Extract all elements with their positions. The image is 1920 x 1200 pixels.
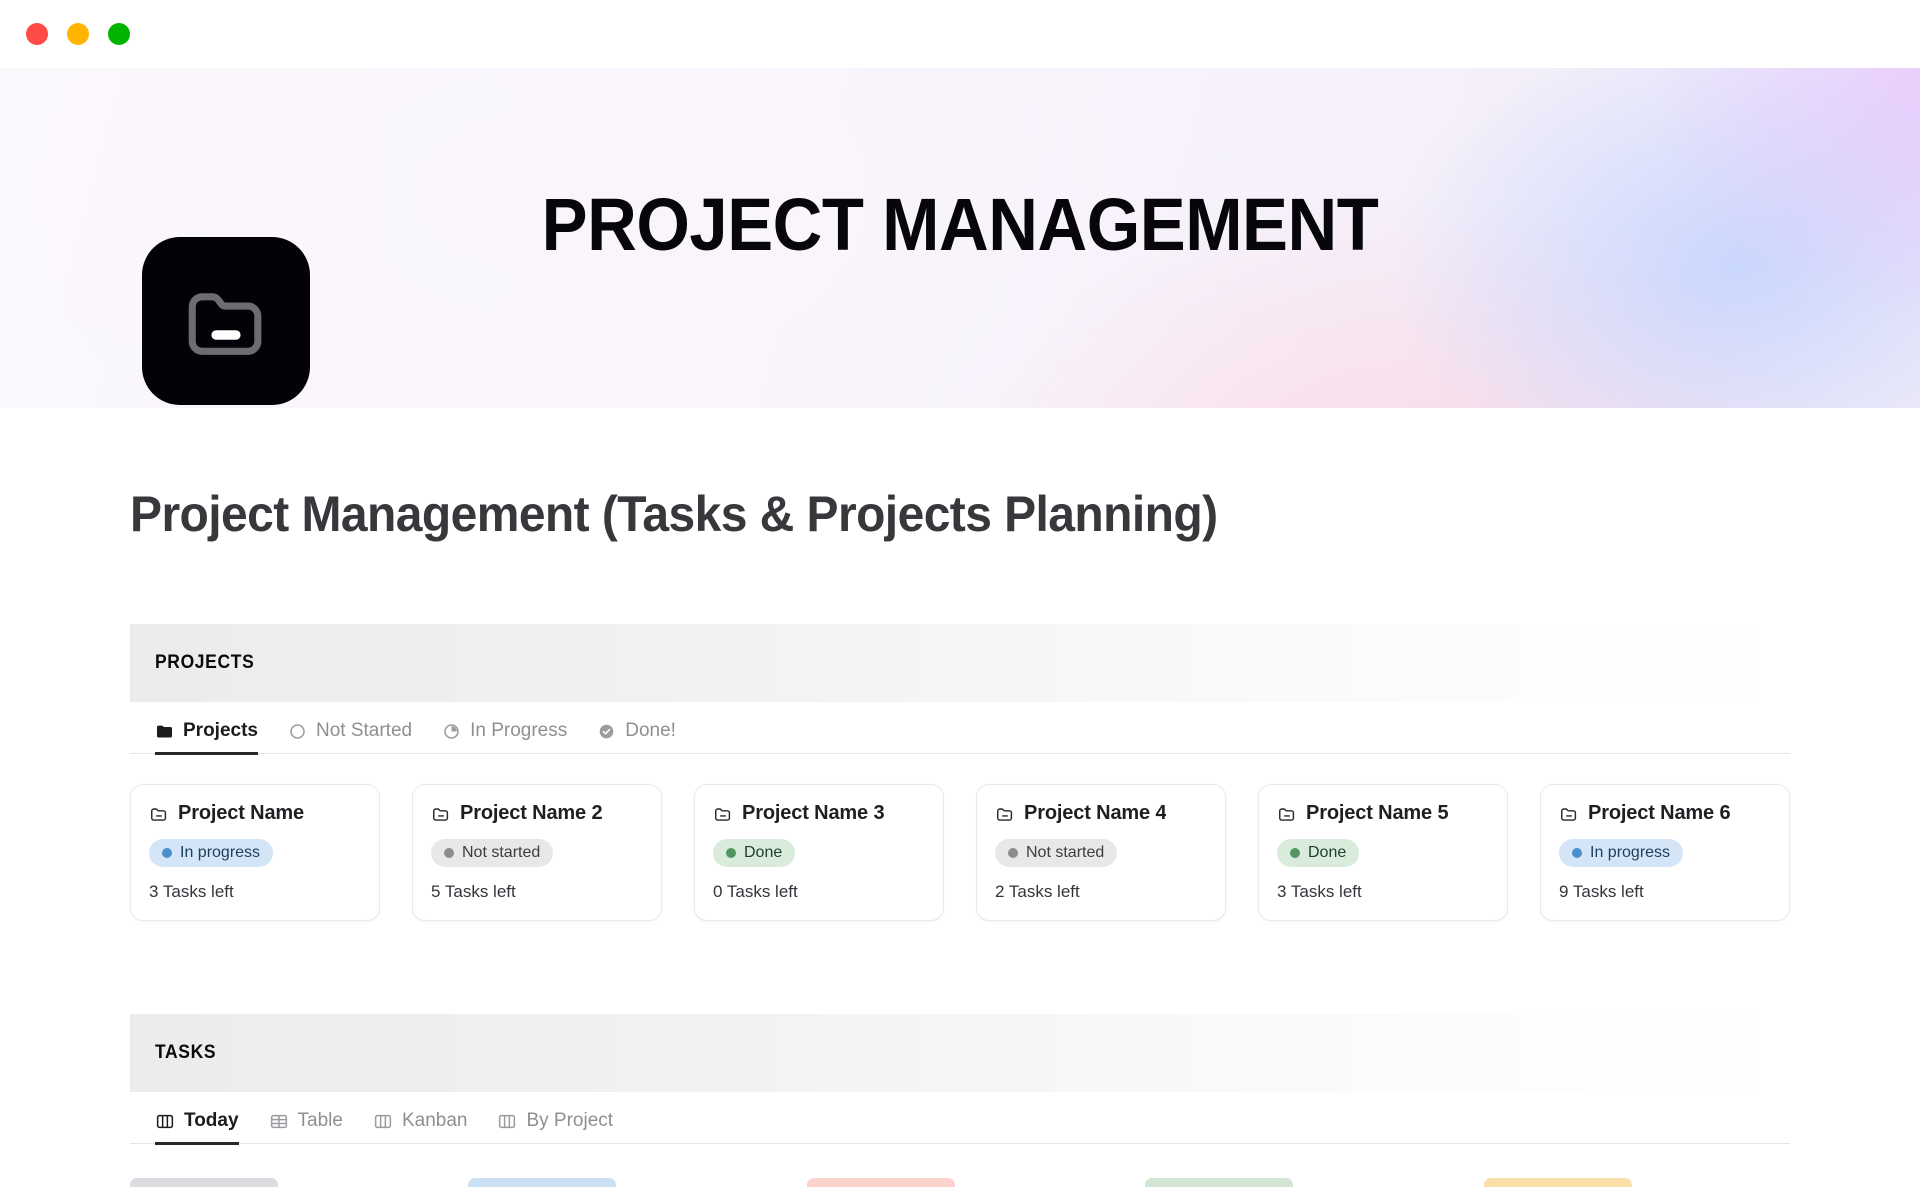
tasks-section: TASKS TodayTableKanbanBy Project	[130, 1014, 1790, 1144]
tasks-band: TASKS	[130, 1014, 1790, 1092]
folder-filled-icon	[155, 722, 174, 741]
project-title: Project Name 3	[742, 802, 884, 825]
tab-label: Projects	[183, 720, 258, 742]
status-label: Done	[1308, 844, 1346, 862]
status-dot-icon	[1572, 848, 1582, 858]
project-card-header: Project Name	[149, 802, 361, 825]
status-badge: Done	[1277, 839, 1359, 867]
status-dot-icon	[726, 848, 736, 858]
board-columns-icon	[373, 1112, 393, 1131]
status-badge: Not started	[995, 839, 1117, 867]
status-badge: Done	[713, 839, 795, 867]
folder-outline-icon	[1559, 804, 1579, 824]
clock-progress-icon	[442, 722, 461, 741]
banner-title: PROJECT MANAGEMENT	[67, 188, 1853, 262]
page-title: Project Management (Tasks & Projects Pla…	[130, 485, 1218, 543]
circle-outline-icon	[288, 722, 307, 741]
folder-outline-icon	[149, 804, 169, 824]
status-badge: In progress	[149, 839, 273, 867]
folder-app-icon[interactable]	[142, 237, 310, 405]
tab-kanban[interactable]: Kanban	[373, 1110, 468, 1143]
tab-done[interactable]: Done!	[597, 720, 676, 753]
project-cards-row: Project Name In progress 3 Tasks left Pr…	[130, 784, 1790, 921]
tab-today[interactable]: Today	[155, 1110, 239, 1143]
status-dot-icon	[1290, 848, 1300, 858]
project-title: Project Name 2	[460, 802, 602, 825]
tab-label: By Project	[526, 1110, 613, 1132]
status-label: In progress	[180, 844, 260, 862]
tasks-band-label: TASKS	[155, 1042, 216, 1064]
project-title: Project Name 6	[1588, 802, 1730, 825]
tab-projects[interactable]: Projects	[155, 720, 258, 753]
tab-by-project[interactable]: By Project	[497, 1110, 613, 1143]
status-dot-icon	[162, 848, 172, 858]
folder-outline-icon	[995, 804, 1015, 824]
project-card[interactable]: Project Name 2 Not started 5 Tasks left	[412, 784, 662, 921]
close-button[interactable]	[26, 23, 48, 45]
status-badge: In progress	[1559, 839, 1683, 867]
tab-label: Done!	[625, 720, 676, 742]
projects-tabs: ProjectsNot StartedIn ProgressDone!	[130, 702, 1790, 754]
kanban-column-red[interactable]	[807, 1178, 1113, 1200]
status-label: Done	[744, 844, 782, 862]
folder-outline-icon	[431, 804, 451, 824]
tab-label: Today	[184, 1110, 239, 1132]
status-dot-icon	[444, 848, 454, 858]
projects-band-label: PROJECTS	[155, 652, 254, 674]
minimize-button[interactable]	[67, 23, 89, 45]
folder-outline-icon	[713, 804, 733, 824]
project-title: Project Name 5	[1306, 802, 1448, 825]
tab-label: Kanban	[402, 1110, 468, 1132]
projects-band: PROJECTS	[130, 624, 1790, 702]
kanban-column-blue[interactable]	[468, 1178, 774, 1200]
tab-not-started[interactable]: Not Started	[288, 720, 412, 753]
tasks-left-label: 3 Tasks left	[1277, 882, 1489, 902]
tasks-left-label: 0 Tasks left	[713, 882, 925, 902]
status-label: In progress	[1590, 844, 1670, 862]
project-card-header: Project Name 6	[1559, 802, 1771, 825]
board-columns-icon	[155, 1112, 175, 1131]
zoom-button[interactable]	[108, 23, 130, 45]
traffic-lights	[26, 23, 130, 45]
status-dot-icon	[1008, 848, 1018, 858]
project-card-header: Project Name 4	[995, 802, 1207, 825]
tab-table[interactable]: Table	[269, 1110, 343, 1143]
kanban-column-green[interactable]	[1145, 1178, 1451, 1200]
tasks-left-label: 5 Tasks left	[431, 882, 643, 902]
project-card-header: Project Name 5	[1277, 802, 1489, 825]
kanban-columns-preview	[130, 1178, 1790, 1200]
folder-outline-icon	[1277, 804, 1297, 824]
window-titlebar	[0, 0, 1920, 68]
project-title: Project Name	[178, 802, 304, 825]
kanban-column-grey[interactable]	[130, 1178, 436, 1200]
kanban-column-yellow[interactable]	[1484, 1178, 1790, 1200]
status-badge: Not started	[431, 839, 553, 867]
status-label: Not started	[462, 844, 540, 862]
project-card-header: Project Name 2	[431, 802, 643, 825]
tab-label: Not Started	[316, 720, 412, 742]
table-grid-icon	[269, 1112, 289, 1131]
tab-in-progress[interactable]: In Progress	[442, 720, 567, 753]
tasks-left-label: 3 Tasks left	[149, 882, 361, 902]
projects-section: PROJECTS ProjectsNot StartedIn ProgressD…	[130, 624, 1790, 921]
board-columns-icon	[497, 1112, 517, 1131]
project-card[interactable]: Project Name 4 Not started 2 Tasks left	[976, 784, 1226, 921]
check-circle-icon	[597, 722, 616, 741]
tasks-left-label: 9 Tasks left	[1559, 882, 1771, 902]
tab-label: Table	[298, 1110, 343, 1132]
kanban-column-header	[1145, 1178, 1293, 1187]
project-card[interactable]: Project Name 6 In progress 9 Tasks left	[1540, 784, 1790, 921]
project-title: Project Name 4	[1024, 802, 1166, 825]
tab-label: In Progress	[470, 720, 567, 742]
project-card[interactable]: Project Name 3 Done 0 Tasks left	[694, 784, 944, 921]
kanban-column-header	[1484, 1178, 1632, 1187]
tasks-tabs: TodayTableKanbanBy Project	[130, 1092, 1790, 1144]
kanban-column-header	[468, 1178, 616, 1187]
kanban-column-header	[807, 1178, 955, 1187]
project-card[interactable]: Project Name 5 Done 3 Tasks left	[1258, 784, 1508, 921]
project-card[interactable]: Project Name In progress 3 Tasks left	[130, 784, 380, 921]
tasks-left-label: 2 Tasks left	[995, 882, 1207, 902]
kanban-column-header	[130, 1178, 278, 1187]
project-card-header: Project Name 3	[713, 802, 925, 825]
status-label: Not started	[1026, 844, 1104, 862]
